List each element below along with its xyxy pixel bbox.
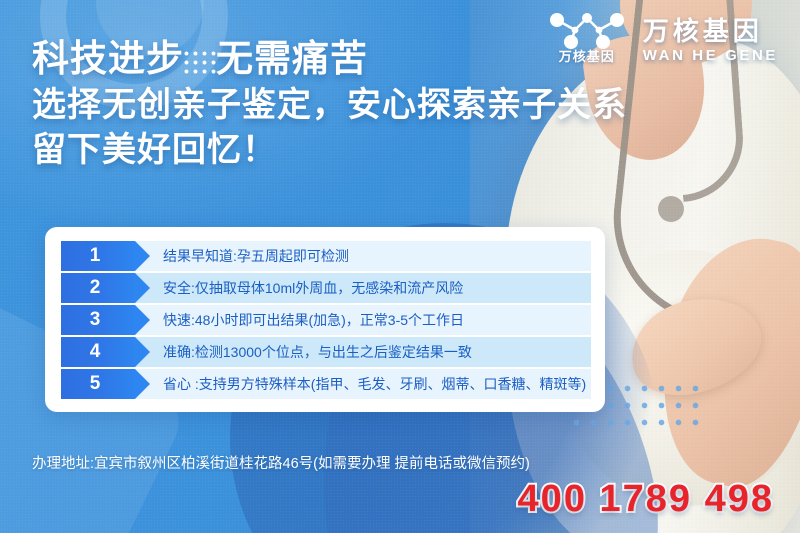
feature-text: 快速:48小时即可出结果(加急)，正常3-5个工作日 xyxy=(135,305,591,335)
logo-mark-label: 万核基因 xyxy=(541,46,633,65)
contact-phone-number[interactable]: 400 1789 498 xyxy=(518,478,774,521)
headline-line-2: 选择无创亲子鉴定，安心探索亲子关系 xyxy=(32,88,692,122)
office-address: 办理地址:宜宾市叙州区柏溪街道桂花路46号(如需要办理 提前电话或微信预约) xyxy=(32,452,530,473)
brand-name-en: WAN HE GENE xyxy=(643,47,778,64)
dot-grid-divider-icon xyxy=(182,49,218,75)
feature-text: 准确:检测13000个位点，与出生之后鉴定结果一致 xyxy=(135,337,591,367)
molecule-nodes-icon: 万核基因 xyxy=(541,8,633,74)
list-item: 1 结果早知道:孕五周起即可检测 xyxy=(61,241,591,271)
list-item: 2 安全:仅抽取母体10ml外周血，无感染和流产风险 xyxy=(61,273,591,303)
features-card: 1 结果早知道:孕五周起即可检测 2 安全:仅抽取母体10ml外周血，无感染和流… xyxy=(45,227,605,412)
feature-text: 安全:仅抽取母体10ml外周血，无感染和流产风险 xyxy=(135,273,591,303)
feature-number-badge: 5 xyxy=(61,369,135,399)
promo-banner: 万核基因 万核基因 WAN HE GENE 科技进步无需痛苦 选择无创亲子鉴定，… xyxy=(0,0,800,533)
brand-wordmark: 万核基因 WAN HE GENE xyxy=(643,18,778,64)
feature-number-badge: 2 xyxy=(61,273,135,303)
list-item: 5 省心 :支持男方特殊样本(指甲、毛发、牙刷、烟蒂、口香糖、精斑等) xyxy=(61,369,591,399)
brand-name-cn: 万核基因 xyxy=(643,18,778,45)
feature-number-badge: 4 xyxy=(61,337,135,367)
stethoscope-chestpiece-icon xyxy=(658,196,684,222)
list-item: 3 快速:48小时即可出结果(加急)，正常3-5个工作日 xyxy=(61,305,591,335)
headline-line-3: 留下美好回忆！ xyxy=(32,133,692,167)
headline-line-1-part-2: 无需痛苦 xyxy=(216,38,368,79)
list-item: 4 准确:检测13000个位点，与出生之后鉴定结果一致 xyxy=(61,337,591,367)
feature-number-badge: 3 xyxy=(61,305,135,335)
feature-text: 结果早知道:孕五周起即可检测 xyxy=(135,241,591,271)
headline-line-1-part-1: 科技进步 xyxy=(32,38,184,79)
feature-number-badge: 1 xyxy=(61,241,135,271)
brand-logo: 万核基因 万核基因 WAN HE GENE xyxy=(541,8,778,74)
feature-text: 省心 :支持男方特殊样本(指甲、毛发、牙刷、烟蒂、口香糖、精斑等) xyxy=(135,369,591,399)
